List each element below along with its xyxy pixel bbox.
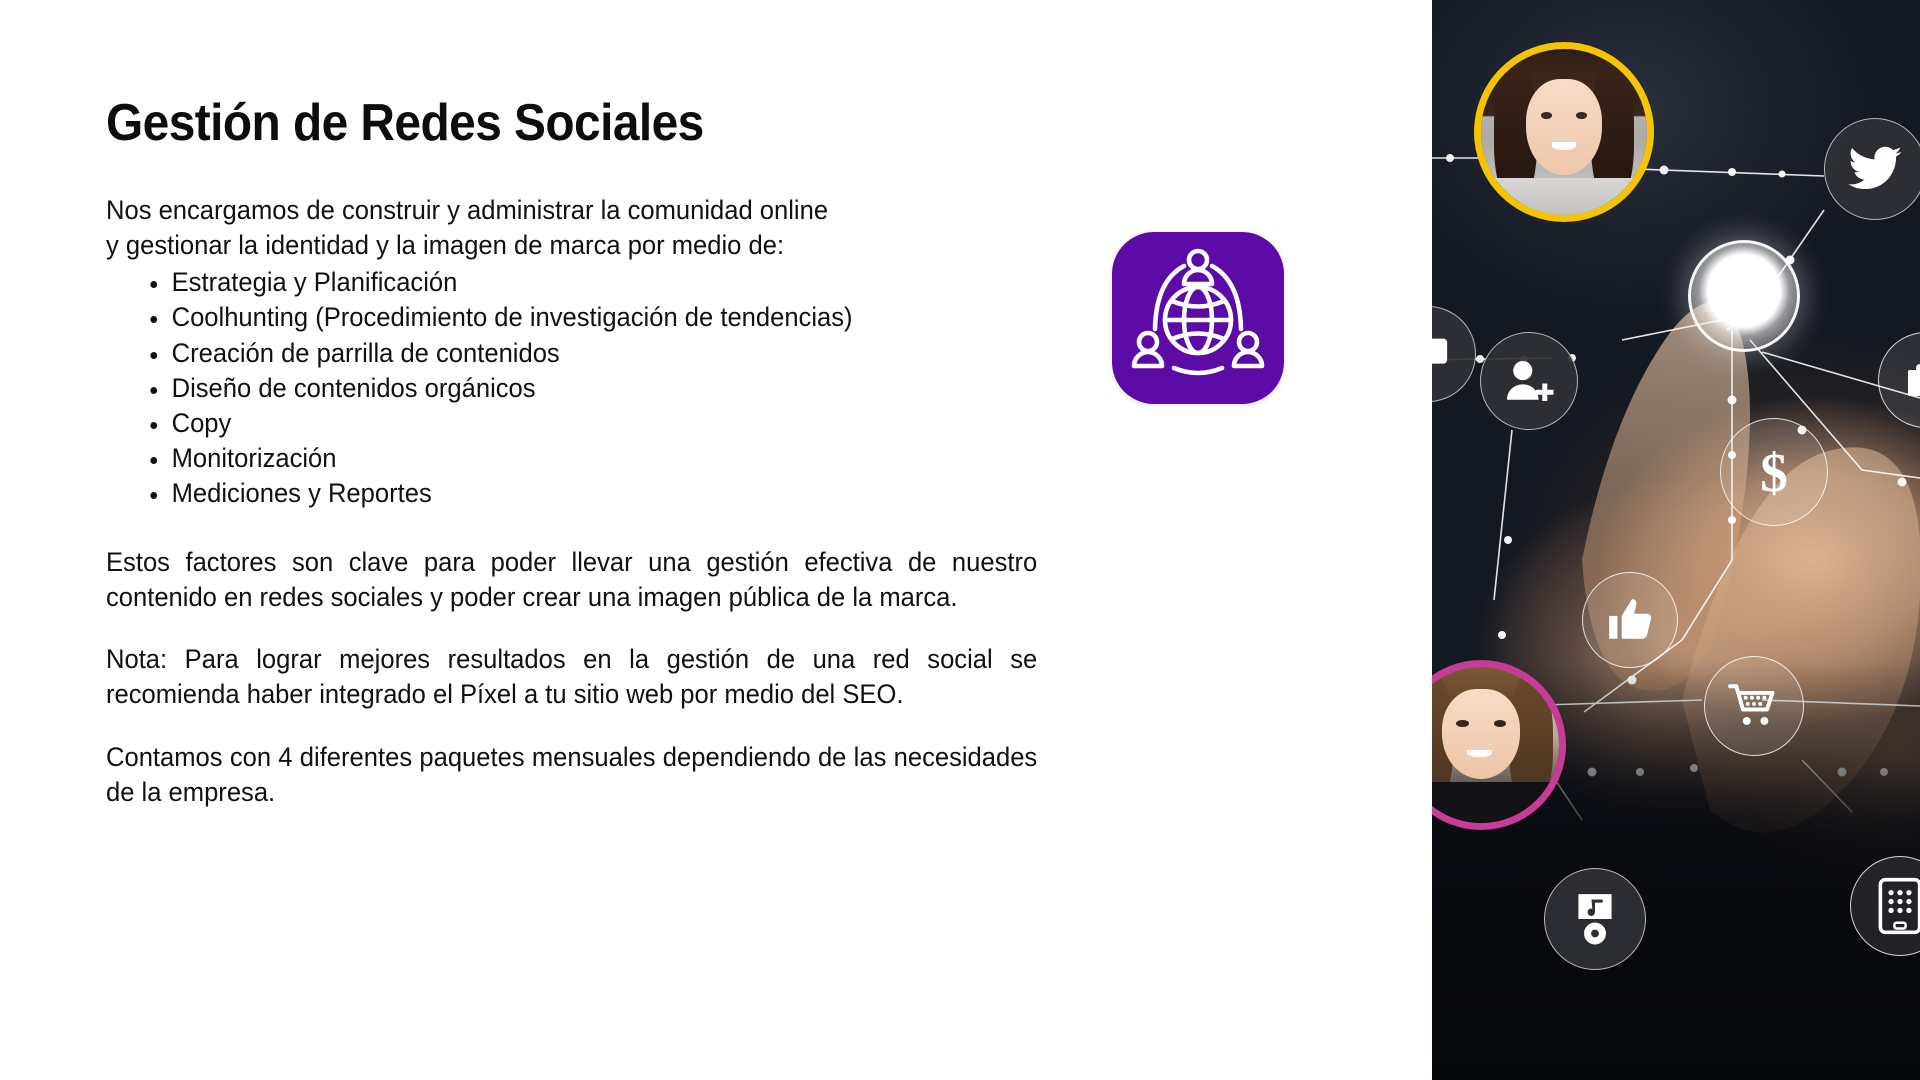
shopping-cart-icon xyxy=(1704,656,1804,756)
paragraph-factores: Estos factores son clave para poder llev… xyxy=(106,545,1037,615)
intro-paragraph: Nos encargamos de construir y administra… xyxy=(106,193,1037,263)
list-item: Creación de parrilla de contenidos xyxy=(150,336,1037,371)
dollar-sign-icon: $ xyxy=(1720,418,1828,526)
page-title: Gestión de Redes Sociales xyxy=(106,96,1100,151)
social-network-photo: $ xyxy=(1432,0,1920,1080)
intro-line-2: y gestionar la identidad y la imagen de … xyxy=(106,228,1037,263)
slide-root: Gestión de Redes Sociales Nos encargamos… xyxy=(0,0,1920,1080)
list-item: Monitorización xyxy=(150,441,1037,476)
community-network-icon xyxy=(1112,232,1284,404)
intro-line-1: Nos encargamos de construir y administra… xyxy=(106,193,1037,228)
add-user-icon xyxy=(1480,332,1578,430)
paragraph-nota: Nota: Para lograr mejores resultados en … xyxy=(106,642,1037,712)
svg-text:$: $ xyxy=(1760,442,1788,503)
feature-list: Estrategia y Planificación Coolhunting (… xyxy=(106,265,1037,512)
avatar-woman-yellow-ring xyxy=(1474,42,1654,222)
glow-node-icon xyxy=(1688,240,1800,352)
list-item: Mediciones y Reportes xyxy=(150,476,1037,511)
content-column: Gestión de Redes Sociales Nos encargamos… xyxy=(106,96,1186,810)
list-item: Copy xyxy=(150,406,1037,441)
music-player-icon xyxy=(1544,868,1646,970)
body-text: Nos encargamos de construir y administra… xyxy=(106,193,1037,811)
list-item: Coolhunting (Procedimiento de investigac… xyxy=(150,300,1037,335)
avatar xyxy=(1481,49,1647,215)
list-item: Estrategia y Planificación xyxy=(150,265,1037,300)
avatar xyxy=(1432,667,1559,823)
twitter-bird-icon xyxy=(1824,118,1920,220)
paragraph-paquetes: Contamos con 4 diferentes paquetes mensu… xyxy=(106,740,1037,810)
avatar-woman-pink-ring xyxy=(1432,660,1566,830)
thumbs-up-icon xyxy=(1582,572,1678,668)
list-item: Diseño de contenidos orgánicos xyxy=(150,371,1037,406)
